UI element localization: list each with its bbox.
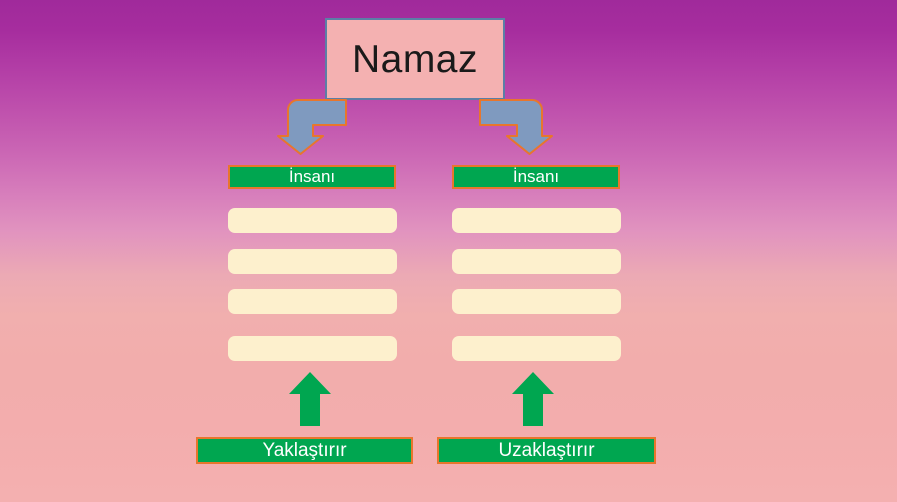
blank-row[interactable] bbox=[452, 208, 621, 233]
column-footer-right[interactable]: Uzaklaştırır bbox=[437, 437, 656, 464]
up-arrow-icon-right bbox=[512, 372, 554, 426]
blank-row[interactable] bbox=[228, 249, 397, 274]
column-footer-left-label: Yaklaştırır bbox=[262, 440, 346, 462]
blank-row[interactable] bbox=[228, 208, 397, 233]
column-header-right[interactable]: İnsanı bbox=[452, 165, 620, 189]
blank-row[interactable] bbox=[228, 336, 397, 361]
slide-canvas: Namaz İnsanı İnsanı Yaklaştırır Uzaklaşt… bbox=[0, 0, 897, 502]
blank-row[interactable] bbox=[228, 289, 397, 314]
column-header-left-label: İnsanı bbox=[289, 167, 335, 187]
column-header-left[interactable]: İnsanı bbox=[228, 165, 396, 189]
blank-row[interactable] bbox=[452, 249, 621, 274]
blank-row[interactable] bbox=[452, 289, 621, 314]
elbow-arrow-down-left bbox=[276, 98, 348, 156]
elbow-arrow-down-right bbox=[478, 98, 554, 156]
column-footer-left[interactable]: Yaklaştırır bbox=[196, 437, 413, 464]
column-header-right-label: İnsanı bbox=[513, 167, 559, 187]
column-footer-right-label: Uzaklaştırır bbox=[498, 440, 594, 462]
up-arrow-icon-left bbox=[289, 372, 331, 426]
blank-row[interactable] bbox=[452, 336, 621, 361]
title-box[interactable]: Namaz bbox=[325, 18, 505, 100]
page-title: Namaz bbox=[352, 40, 478, 79]
